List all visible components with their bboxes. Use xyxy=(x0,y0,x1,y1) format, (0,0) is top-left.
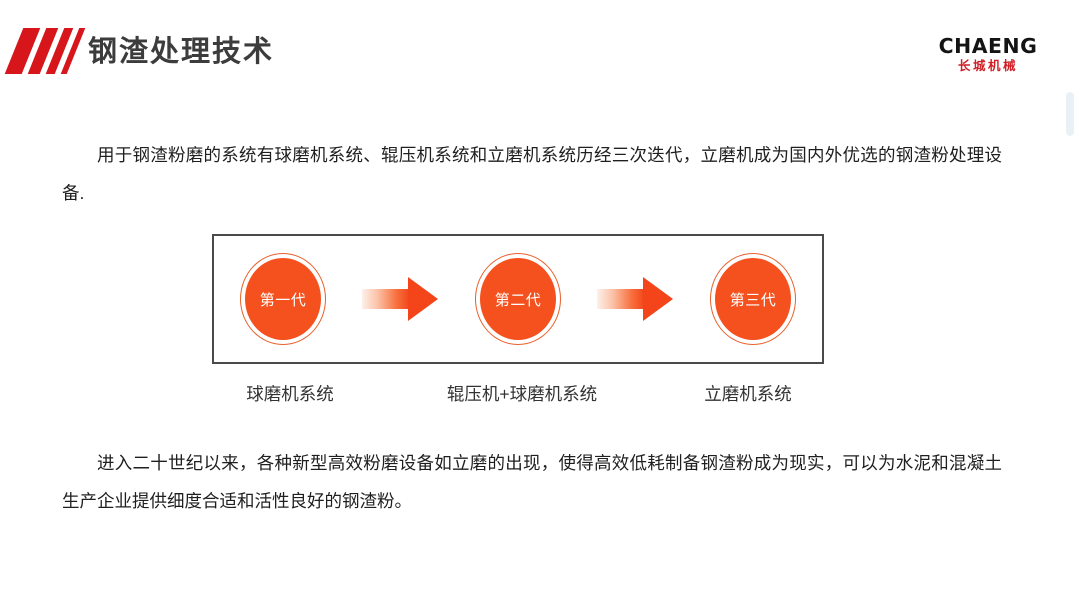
slide-header: 钢渣处理技术 CHAENG 长城机械 xyxy=(0,0,1080,100)
generation-circle-3: 第三代 xyxy=(710,253,796,345)
slide-root: 钢渣处理技术 CHAENG 长城机械 用于钢渣粉磨的系统有球磨机系统、辊压机系统… xyxy=(0,0,1080,607)
brand-subtitle: 长城机械 xyxy=(936,60,1040,73)
page-title: 钢渣处理技术 xyxy=(88,32,274,72)
generation-label-1: 第一代 xyxy=(260,289,307,310)
red-slashes-icon xyxy=(12,28,82,74)
caption-stage-1: 球磨机系统 xyxy=(210,378,370,410)
generation-flow: 第一代 第二代 第三代 xyxy=(212,234,824,364)
generation-circle-1: 第一代 xyxy=(240,253,326,345)
generation-label-2: 第二代 xyxy=(495,289,542,310)
caption-stage-2: 辊压机+球磨机系统 xyxy=(422,378,622,410)
arrow-right-icon-1 xyxy=(362,277,440,321)
diagram-captions: 球磨机系统 辊压机+球磨机系统 立磨机系统 xyxy=(212,378,824,410)
paragraph-bottom: 进入二十世纪以来，各种新型高效粉磨设备如立磨的出现，使得高效低耗制备钢渣粉成为现… xyxy=(62,444,1002,520)
arrow-right-icon-2 xyxy=(597,277,675,321)
brand-logo: CHAENG 长城机械 xyxy=(936,36,1040,73)
generation-label-3: 第三代 xyxy=(730,289,777,310)
brand-name: CHAENG xyxy=(935,36,1041,56)
generation-circle-2: 第二代 xyxy=(475,253,561,345)
caption-stage-3: 立磨机系统 xyxy=(668,378,828,410)
paragraph-top: 用于钢渣粉磨的系统有球磨机系统、辊压机系统和立磨机系统历经三次迭代，立磨机成为国… xyxy=(62,136,1002,212)
scrollbar-sliver[interactable] xyxy=(1066,92,1074,136)
